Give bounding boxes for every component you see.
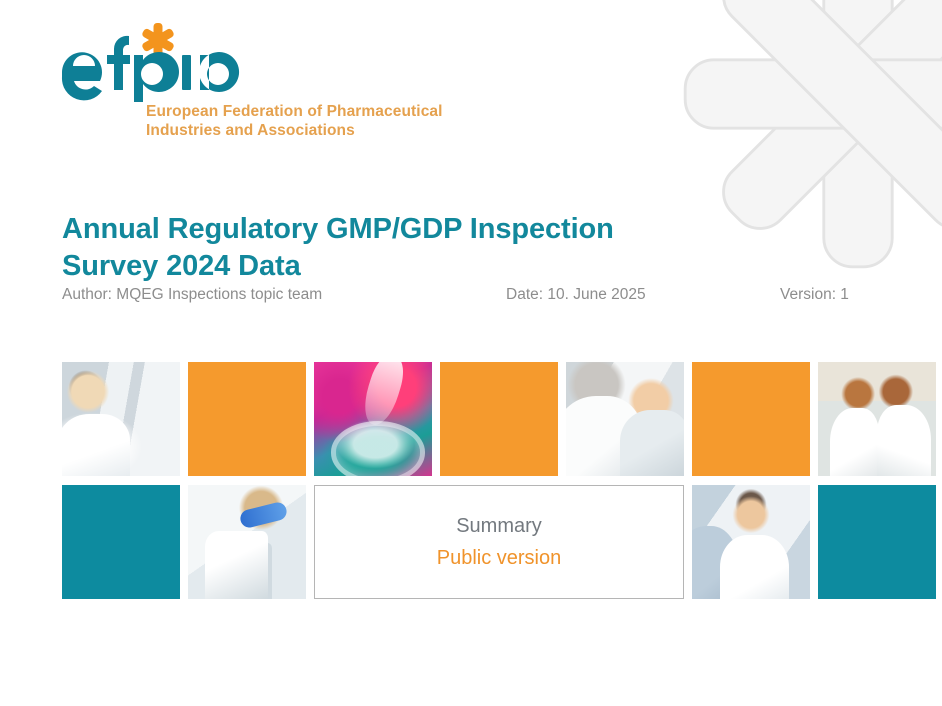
image-tile-grid: Summary Public version: [62, 362, 888, 599]
photo-consultation-image: [692, 485, 810, 599]
tile-teal-block-1: [62, 485, 180, 599]
efpia-wordmark: [60, 22, 260, 102]
photo-microscope-image: [188, 485, 306, 599]
tile-photo-pharmacists: [818, 362, 936, 476]
efpia-subtitle-line2: Industries and Associations: [146, 121, 546, 140]
meta-author: Author: MQEG Inspections topic team: [62, 286, 322, 304]
tile-photo-pipette-petri: [314, 362, 432, 476]
efpia-subtitle: European Federation of Pharmaceutical In…: [146, 102, 546, 140]
page-title-line2: Survey 2024 Data: [62, 250, 301, 282]
page-title: Annual Regulatory GMP/GDP Inspection Sur…: [62, 211, 762, 285]
meta-version: Version: 1: [780, 286, 849, 304]
document-meta: Author: MQEG Inspections topic team Date…: [62, 286, 882, 308]
tile-teal-block-2: [818, 485, 936, 599]
photo-pipette-petri-image: [314, 362, 432, 476]
tile-orange-block-3: [692, 362, 810, 476]
photo-pharmacists-image: [818, 362, 936, 476]
asterisk-icon: [141, 23, 175, 57]
tile-photo-consultation: [692, 485, 810, 599]
tile-orange-block-2: [440, 362, 558, 476]
summary-subtitle: Public version: [437, 548, 562, 568]
tile-orange-block-1: [188, 362, 306, 476]
tile-photo-stethoscope-exam: [566, 362, 684, 476]
photo-stethoscope-exam-image: [566, 362, 684, 476]
tile-photo-doctor-tablet: [62, 362, 180, 476]
tile-row: [62, 362, 888, 476]
tile-row: Summary Public version: [62, 485, 888, 599]
meta-date: Date: 10. June 2025: [506, 286, 646, 304]
photo-doctor-tablet-image: [62, 362, 180, 476]
efpia-subtitle-line1: European Federation of Pharmaceutical: [146, 103, 443, 120]
summary-box: Summary Public version: [314, 485, 684, 599]
summary-title: Summary: [456, 516, 542, 536]
efpia-logo: European Federation of Pharmaceutical In…: [60, 22, 260, 102]
page-title-line1: Annual Regulatory GMP/GDP Inspection: [62, 213, 614, 245]
tile-photo-microscope: [188, 485, 306, 599]
